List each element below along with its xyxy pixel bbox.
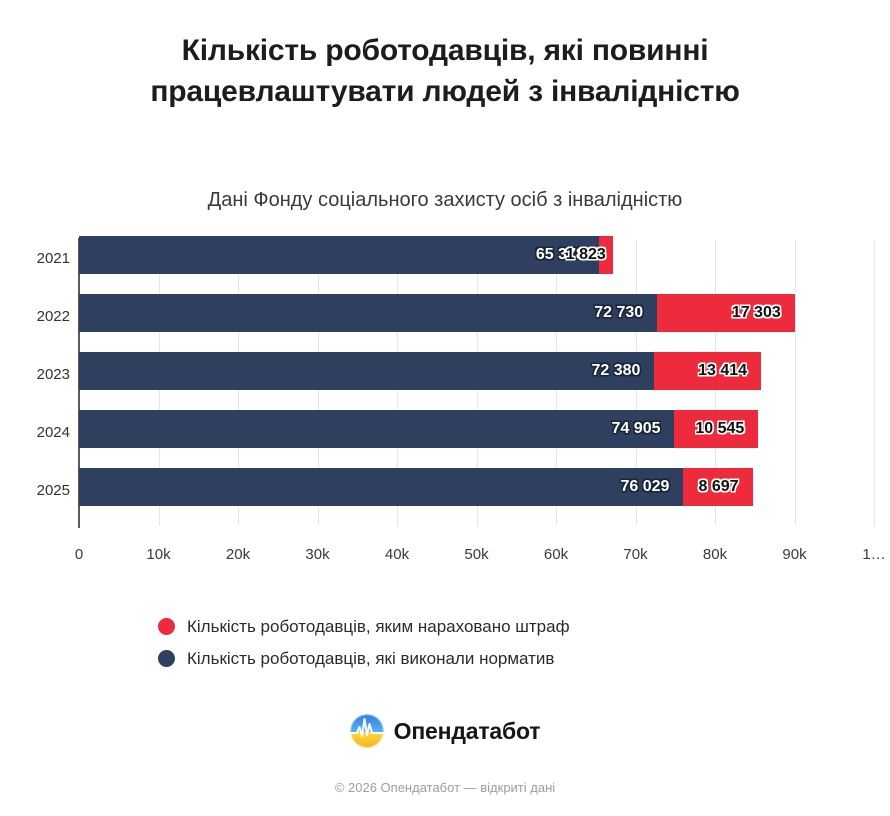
bar-value-label: 72 380 <box>591 362 654 380</box>
x-axis-tick-label: 0 <box>75 546 83 563</box>
navy-dot-icon <box>158 650 175 667</box>
chart-legend: Кількість роботодавців, яким нараховано … <box>158 614 758 678</box>
opendatabot-logo-icon <box>350 714 384 748</box>
x-axis-tick-label: 20k <box>226 546 250 563</box>
legend-item-label: Кількість роботодавців, яким нараховано … <box>187 617 570 637</box>
x-axis-tick-label: 80k <box>703 546 727 563</box>
bar-row[interactable]: 72 73017 303 <box>79 294 874 332</box>
x-axis-tick-label: 40k <box>385 546 409 563</box>
y-axis-tick-label: 2025 <box>0 482 70 499</box>
bar-row[interactable]: 74 90510 545 <box>79 410 874 448</box>
gridline <box>874 240 875 526</box>
x-axis-tick-label: 10k <box>146 546 170 563</box>
y-axis-tick-label: 2021 <box>0 250 70 267</box>
chart-page: Кількість роботодавців, які повинні прац… <box>0 0 890 816</box>
bar-row[interactable]: 72 38013 414 <box>79 352 874 390</box>
bar-segment-compliant[interactable]: 65 378 <box>79 236 599 274</box>
brand-footer: Опендатабот <box>0 714 890 748</box>
x-axis-tick-label: 1… <box>862 546 885 563</box>
bar-value-label: 76 029 <box>620 478 683 496</box>
bar-segment-compliant[interactable]: 74 905 <box>79 410 674 448</box>
x-axis-tick-label: 30k <box>305 546 329 563</box>
bar-value-label: 72 730 <box>594 304 657 322</box>
copyright-text: © 2026 Опендатабот — відкриті дані <box>0 780 890 795</box>
red-dot-icon <box>158 618 175 635</box>
bar-value-label: 10 545 <box>695 420 758 438</box>
bar-value-label: 1 823 <box>566 236 606 274</box>
page-title: Кількість роботодавців, які повинні прац… <box>70 30 820 112</box>
page-subtitle: Дані Фонду соціального захисту осіб з ін… <box>70 187 820 213</box>
bar-value-label: 13 414 <box>698 362 761 380</box>
bar-segment-fined[interactable]: 10 545 <box>674 410 758 448</box>
bar-value-label: 17 303 <box>732 304 795 322</box>
bar-segment-compliant[interactable]: 72 730 <box>79 294 657 332</box>
brand-name: Опендатабот <box>394 718 541 745</box>
x-axis-tick-label: 90k <box>782 546 806 563</box>
bar-segment-compliant[interactable]: 76 029 <box>79 468 683 506</box>
y-axis-tick-label: 2024 <box>0 424 70 441</box>
bar-segment-fined[interactable]: 17 303 <box>657 294 795 332</box>
x-axis-tick-label: 50k <box>464 546 488 563</box>
x-axis-tick-label: 60k <box>544 546 568 563</box>
legend-item-fined[interactable]: Кількість роботодавців, яким нараховано … <box>158 614 758 639</box>
bar-row[interactable]: 76 0298 697 <box>79 468 874 506</box>
bar-value-label: 8 697 <box>699 478 753 496</box>
x-axis-tick-label: 70k <box>623 546 647 563</box>
y-axis-tick-label: 2023 <box>0 366 70 383</box>
legend-item-label: Кількість роботодавців, які виконали нор… <box>187 649 554 669</box>
bar-row[interactable]: 65 3781 823 <box>79 236 874 274</box>
bar-value-label: 74 905 <box>612 420 675 438</box>
legend-item-compliant[interactable]: Кількість роботодавців, які виконали нор… <box>158 646 758 671</box>
y-axis-tick-label: 2022 <box>0 308 70 325</box>
plot-area: 65 3781 82372 73017 30372 38013 41474 90… <box>79 240 874 526</box>
bar-segment-fined[interactable]: 8 697 <box>683 468 752 506</box>
bar-segment-fined[interactable]: 13 414 <box>654 352 761 390</box>
bar-segment-compliant[interactable]: 72 380 <box>79 352 654 390</box>
bar-chart: 65 3781 82372 73017 30372 38013 41474 90… <box>0 236 890 536</box>
